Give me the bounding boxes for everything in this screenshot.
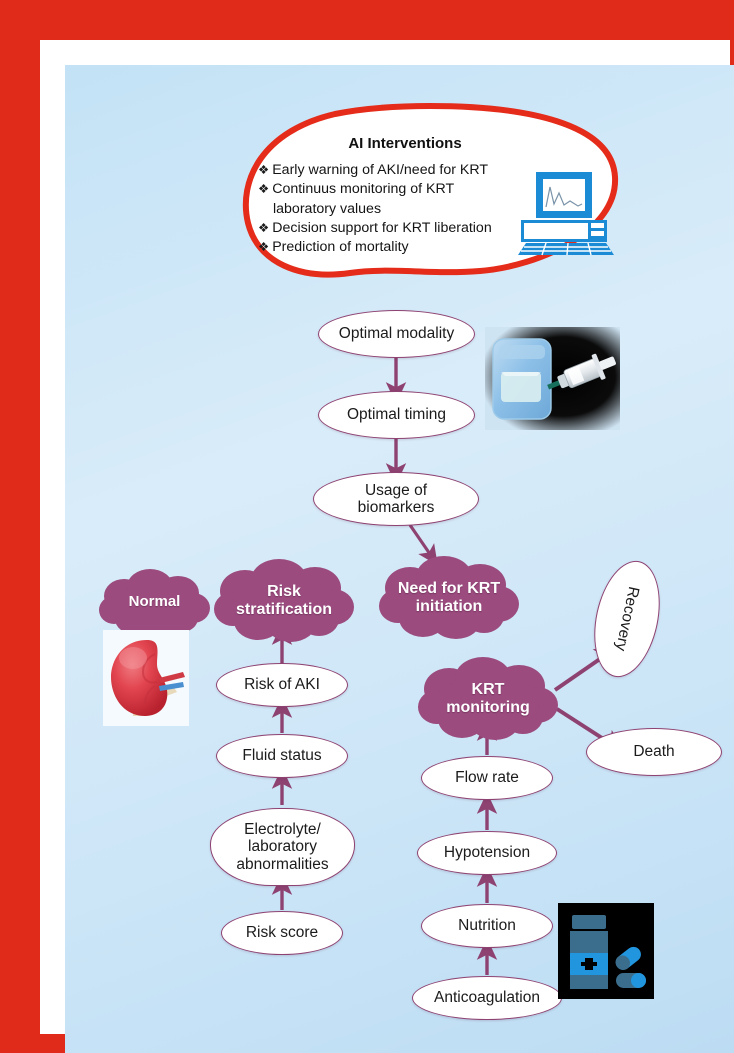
diamond-bullet-icon: ❖ [258, 219, 269, 238]
ai-list-item-1: ❖ Early warning of AKI/need for KRT [258, 161, 603, 180]
kidney-anatomy-image [103, 630, 189, 726]
node-recovery[interactable]: Recovery [584, 555, 669, 683]
diamond-bullet-icon: ❖ [258, 180, 269, 199]
red-border-frame: AI Interventions ❖ Early warning of AKI/… [18, 18, 716, 1020]
ai-list-item-4: ❖ Prediction of mortality [258, 238, 603, 257]
cloud-normal[interactable]: Normal [98, 566, 211, 639]
diamond-bullet-icon: ❖ [258, 238, 269, 257]
cloud-need-for-krt-initiation[interactable]: Need for KRT initiation [378, 554, 520, 642]
cloud-krt-monitoring[interactable]: KRT monitoring [417, 655, 559, 743]
ai-list-item-2: ❖ Continuus monitoring of KRT [258, 180, 603, 199]
ai-list-item-3: ❖ Decision support for KRT liberation [258, 219, 603, 238]
diamond-bullet-icon: ❖ [258, 161, 269, 180]
node-nutrition[interactable]: Nutrition [421, 904, 553, 948]
node-optimal-modality[interactable]: Optimal modality [318, 310, 475, 358]
node-risk-score[interactable]: Risk score [221, 911, 343, 955]
node-electrolyte-laboratory-abnormalities[interactable]: Electrolyte/ laboratory abnormalities [210, 808, 355, 886]
white-inner-border: AI Interventions ❖ Early warning of AKI/… [40, 40, 730, 1034]
node-usage-of-biomarkers[interactable]: Usage of biomarkers [313, 472, 479, 526]
node-risk-of-aki[interactable]: Risk of AKI [216, 663, 348, 707]
node-death[interactable]: Death [586, 728, 722, 776]
node-flow-rate[interactable]: Flow rate [421, 756, 553, 800]
ai-interventions-title: AI Interventions [240, 135, 570, 152]
node-fluid-status[interactable]: Fluid status [216, 734, 348, 778]
node-optimal-timing[interactable]: Optimal timing [318, 391, 475, 439]
ai-list-item-2-cont: laboratory values [258, 200, 603, 219]
ai-interventions-callout: AI Interventions ❖ Early warning of AKI/… [240, 103, 620, 293]
medicine-bottle-pills-icon [558, 903, 654, 999]
dialysis-cartridge-syringe-image [485, 327, 620, 430]
diagram-canvas: AI Interventions ❖ Early warning of AKI/… [65, 65, 734, 1053]
node-anticoagulation[interactable]: Anticoagulation [412, 976, 562, 1020]
node-hypotension[interactable]: Hypotension [417, 831, 557, 875]
ai-interventions-list: ❖ Early warning of AKI/need for KRT ❖ Co… [258, 161, 603, 258]
cloud-risk-stratification[interactable]: Risk stratification [213, 557, 355, 645]
